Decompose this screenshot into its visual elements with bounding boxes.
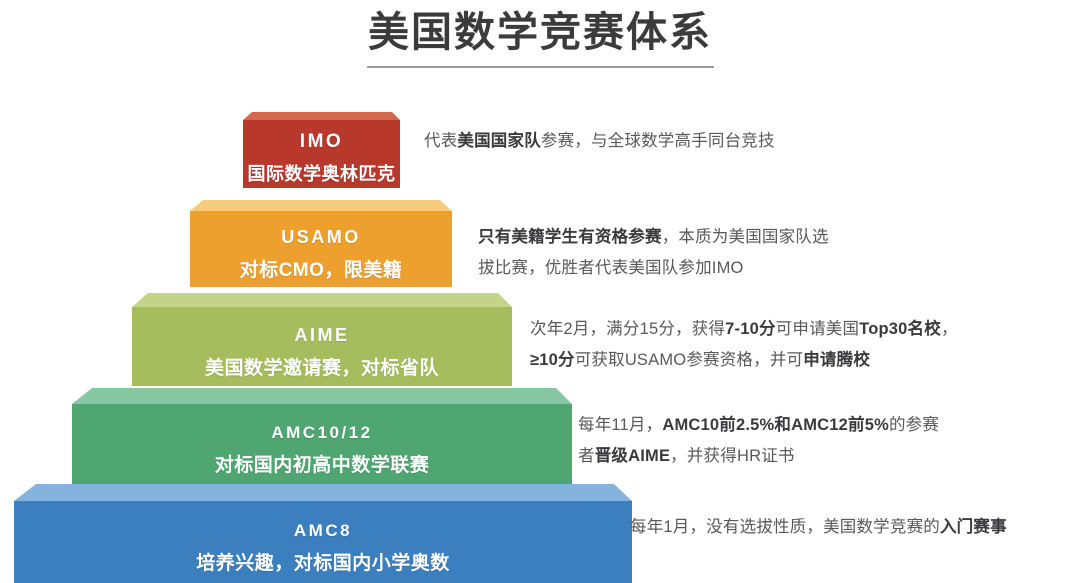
note-text-segment: 可申请美国 [776,320,860,338]
tier-name-amc8: AMC8 [294,521,352,541]
note-usamo: 只有美籍学生有资格参赛，本质为美国国家队选拔比赛，优胜者代表美国队参加IMO [478,222,829,284]
note-text-segment: 7-10分 [725,320,776,338]
note-text-segment: ， [941,320,958,338]
pyramid-tier-imo-front-face[interactable]: IMO国际数学奥林匹克 [243,120,400,188]
title-underline [367,66,714,68]
note-aime-line-1: 次年2月，满分15分，获得7-10分可申请美国Top30名校， [530,314,958,345]
note-text-segment: 入门赛事 [940,518,1007,536]
pyramid-tier-imo-top-face [0,0,1080,583]
note-text-segment: 参赛，与全球数学高手同台竞技 [541,132,775,150]
pyramid-tier-amc8-top-face [0,0,1080,583]
note-text-segment: 晋级AIME [595,447,670,465]
tier-name-amc1012: AMC10/12 [271,423,372,443]
note-text-segment: 申请腾校 [803,351,870,369]
note-usamo-line-1: 只有美籍学生有资格参赛，本质为美国国家队选 [478,222,829,253]
note-imo: 代表美国国家队参赛，与全球数学高手同台竞技 [424,126,775,157]
tier-subtitle-usamo: 对标CMO，限美籍 [240,255,403,282]
pyramid-tier-aime-front-face[interactable]: AIME美国数学邀请赛，对标省队 [132,307,512,386]
note-aime-line-2: ≥10分可获取USAMO参赛资格，并可申请腾校 [530,345,958,376]
tier-name-aime: AIME [295,325,350,346]
note-text-segment: Top30名校 [859,320,941,338]
note-text-segment: 每年1月，没有选拔性质，美国数学竞赛的 [630,518,940,536]
note-text-segment: ，并获得HR证书 [670,447,794,465]
note-text-segment: 的参赛 [889,416,939,434]
pyramid-tier-amc1012-front-face[interactable]: AMC10/12对标国内初高中数学联赛 [72,404,572,485]
note-text-segment: 每年11月， [578,416,662,434]
pyramid-tier-usamo-front-face[interactable]: USAMO对标CMO，限美籍 [190,211,452,287]
note-text-segment: 拔比赛，优胜者代表美国队参加IMO [478,259,744,277]
note-text-segment: 次年2月，满分15分，获得 [530,320,725,338]
pyramid-tier-usamo-top-face [0,0,1080,583]
note-text-segment: 可获取USAMO参赛资格，并可 [575,351,804,369]
tier-name-imo: IMO [300,131,343,153]
note-text-segment: ≥10分 [530,351,575,369]
note-amc1012-line-2: 者晋级AIME，并获得HR证书 [578,441,939,472]
tier-subtitle-amc1012: 对标国内初高中数学联赛 [215,450,430,477]
note-usamo-line-2: 拔比赛，优胜者代表美国队参加IMO [478,253,829,284]
note-imo-line-1: 代表美国国家队参赛，与全球数学高手同台竞技 [424,126,775,157]
tier-subtitle-imo: 国际数学奥林匹克 [248,160,396,186]
infographic-canvas: 美国数学竞赛体系 IMO国际数学奥林匹克USAMO对标CMO，限美籍AIME美国… [0,0,1080,583]
pyramid-tier-aime-top-face [0,0,1080,583]
note-amc1012: 每年11月，AMC10前2.5%和AMC12前5%的参赛者晋级AIME，并获得H… [578,410,939,472]
tier-subtitle-amc8: 培养兴趣，对标国内小学奥数 [196,548,450,575]
tier-name-usamo: USAMO [281,227,361,248]
note-text-segment: 美国国家队 [457,132,541,150]
note-text-segment: ，本质为美国国家队选 [662,228,829,246]
pyramid-tier-amc8-front-face[interactable]: AMC8培养兴趣，对标国内小学奥数 [14,501,632,583]
note-text-segment: 者 [578,447,595,465]
note-text-segment: 只有美籍学生有资格参赛 [478,228,662,246]
note-amc8: 每年1月，没有选拔性质，美国数学竞赛的入门赛事 [630,512,1007,543]
note-text-segment: 代表 [424,132,457,150]
note-aime: 次年2月，满分15分，获得7-10分可申请美国Top30名校，≥10分可获取US… [530,314,958,376]
pyramid-tier-amc1012-top-face [0,0,1080,583]
note-amc8-line-1: 每年1月，没有选拔性质，美国数学竞赛的入门赛事 [630,512,1007,543]
note-amc1012-line-1: 每年11月，AMC10前2.5%和AMC12前5%的参赛 [578,410,939,441]
note-text-segment: AMC10前2.5%和AMC12前5% [662,416,889,434]
title-block: 美国数学竞赛体系 [0,6,1080,68]
tier-subtitle-aime: 美国数学邀请赛，对标省队 [205,353,439,380]
page-title: 美国数学竞赛体系 [0,6,1080,58]
